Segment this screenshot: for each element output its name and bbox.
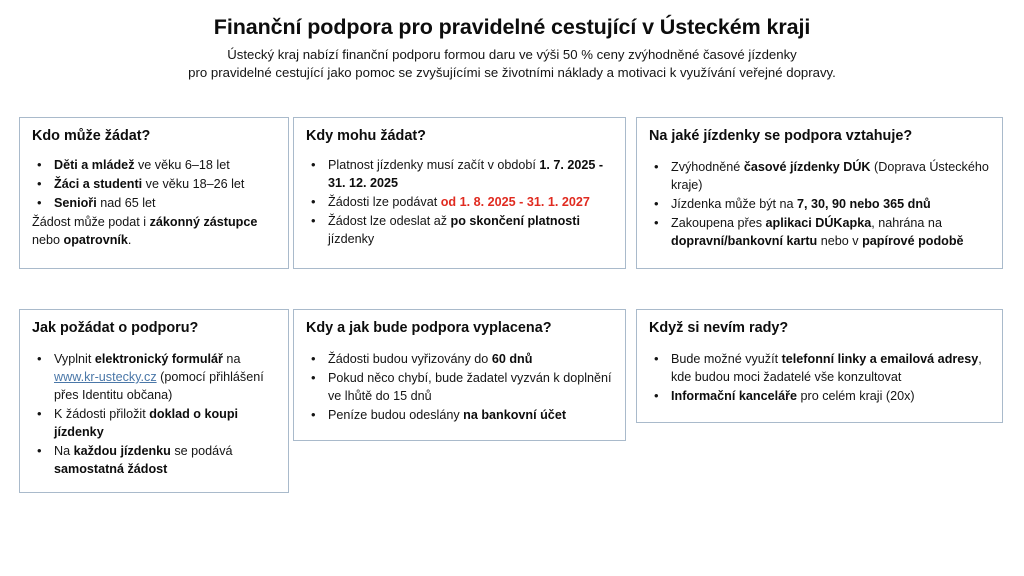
emphasis-text: elektronický formulář xyxy=(95,352,223,366)
bullet-item: Žáci a studenti ve věku 18–26 let xyxy=(32,176,276,194)
text-run: Zvýhodněné xyxy=(671,160,744,174)
text-run: nebo v xyxy=(817,234,862,248)
external-link[interactable]: www.kr-ustecky.cz xyxy=(54,370,157,384)
text-run: Žádosti lze podávat xyxy=(328,195,441,209)
emphasis-text: Senioři xyxy=(54,196,97,210)
bullet-item: Žádost lze odeslat až po skončení platno… xyxy=(306,213,613,249)
text-run: Pokud něco chybí, bude žadatel vyzván k … xyxy=(328,371,612,403)
bullet-list: Děti a mládež ve věku 6–18 letŽáci a stu… xyxy=(32,157,276,213)
card-title: Kdo může žádat? xyxy=(32,128,276,145)
text-run: ve věku 6–18 let xyxy=(135,158,230,172)
text-run: nebo xyxy=(32,233,64,247)
info-card-kdyz-si-nevim-rady: Když si nevím rady? Bude možné využít te… xyxy=(636,309,1003,423)
bullet-list: Zvýhodněné časové jízdenky DÚK (Doprava … xyxy=(649,159,990,250)
text-run: na xyxy=(223,352,241,366)
text-run: Platnost jízdenky musí začít v období xyxy=(328,158,539,172)
bullet-list: Platnost jízdenky musí začít v období 1.… xyxy=(306,157,613,248)
note-line: Žádost může podat i zákonný zástupce xyxy=(32,214,276,232)
bullet-item: Vyplnit elektronický formulář na www.kr-… xyxy=(32,351,276,405)
bullet-item: Na každou jízdenku se podává samostatná … xyxy=(32,443,276,479)
text-run: ve věku 18–26 let xyxy=(142,177,244,191)
bullet-item: Jízdenka může být na 7, 30, 90 nebo 365 … xyxy=(649,196,990,214)
emphasis-text: 60 dnů xyxy=(492,352,533,366)
card-body: Zvýhodněné časové jízdenky DÚK (Doprava … xyxy=(649,151,990,250)
page-subtitle-line-2: pro pravidelné cestující jako pomoc se z… xyxy=(0,64,1024,83)
highlighted-date: od 1. 8. 2025 - 31. 1. 2027 xyxy=(441,195,590,209)
text-run: nad 65 let xyxy=(97,196,156,210)
text-run: , nahrána na xyxy=(871,216,942,230)
info-card-kdy-a-jak-vyplacena: Kdy a jak bude podpora vyplacena? Žádost… xyxy=(293,309,626,441)
bullet-item: Senioři nad 65 let xyxy=(32,195,276,213)
emphasis-text: každou jízdenku xyxy=(74,444,171,458)
text-run: se podává xyxy=(171,444,233,458)
emphasis-text: aplikaci DÚKapka xyxy=(766,216,872,230)
info-card-kdo-muze-zadat: Kdo může žádat? Děti a mládež ve věku 6–… xyxy=(19,117,289,269)
emphasis-text: papírové podobě xyxy=(862,234,963,248)
card-body: Vyplnit elektronický formulář na www.kr-… xyxy=(32,343,276,478)
note-line: nebo opatrovník. xyxy=(32,232,276,250)
card-title: Na jaké jízdenky se podpora vztahuje? xyxy=(649,128,990,145)
bullet-item: Zakoupena přes aplikaci DÚKapka, nahrána… xyxy=(649,215,990,251)
page-title: Finanční podpora pro pravidelné cestujíc… xyxy=(0,0,1024,40)
bullet-item: Informační kanceláře pro celém kraji (20… xyxy=(649,388,990,406)
emphasis-text: dopravní/bankovní kartu xyxy=(671,234,817,248)
bullet-item: Bude možné využít telefonní linky a emai… xyxy=(649,351,990,387)
card-title: Kdy mohu žádat? xyxy=(306,128,613,145)
text-run: jízdenky xyxy=(328,232,374,246)
emphasis-text: samostatná žádost xyxy=(54,462,167,476)
bullet-item: Pokud něco chybí, bude žadatel vyzván k … xyxy=(306,370,613,406)
emphasis-text: Žáci a studenti xyxy=(54,177,142,191)
info-card-jak-pozadat-o-podporu: Jak požádat o podporu? Vyplnit elektroni… xyxy=(19,309,289,493)
text-run: Žádosti budou vyřizovány do xyxy=(328,352,492,366)
text-run: Žádost lze odeslat až xyxy=(328,214,451,228)
text-run: Zakoupena přes xyxy=(671,216,766,230)
text-run: . xyxy=(128,233,132,247)
emphasis-text: Informační kanceláře xyxy=(671,389,797,403)
emphasis-text: Děti a mládež xyxy=(54,158,135,172)
card-body: Platnost jízdenky musí začít v období 1.… xyxy=(306,151,613,248)
page-subtitle-line-1: Ústecký kraj nabízí finanční podporu for… xyxy=(0,46,1024,65)
bullet-item: K žádosti přiložit doklad o koupi jízden… xyxy=(32,406,276,442)
info-card-na-jake-jizdenky: Na jaké jízdenky se podpora vztahuje? Zv… xyxy=(636,117,1003,269)
text-run: Jízdenka může být na xyxy=(671,197,797,211)
emphasis-text: zákonný zástupce xyxy=(150,215,258,229)
bullet-list: Vyplnit elektronický formulář na www.kr-… xyxy=(32,351,276,478)
card-body: Děti a mládež ve věku 6–18 letŽáci a stu… xyxy=(32,151,276,249)
text-run: Peníze budou odeslány xyxy=(328,408,463,422)
page-header: Finanční podpora pro pravidelné cestujíc… xyxy=(0,0,1024,83)
text-run: pro celém kraji (20x) xyxy=(797,389,915,403)
card-body: Žádosti budou vyřizovány do 60 dnůPokud … xyxy=(306,343,613,425)
emphasis-text: po skončení platnosti xyxy=(451,214,580,228)
text-run: Vyplnit xyxy=(54,352,95,366)
bullet-list: Žádosti budou vyřizovány do 60 dnůPokud … xyxy=(306,351,613,425)
emphasis-text: 7, 30, 90 nebo 365 dnů xyxy=(797,197,931,211)
bullet-item: Platnost jízdenky musí začít v období 1.… xyxy=(306,157,613,193)
card-title: Kdy a jak bude podpora vyplacena? xyxy=(306,320,613,337)
text-run: K žádosti přiložit xyxy=(54,407,149,421)
page-subtitle: Ústecký kraj nabízí finanční podporu for… xyxy=(0,40,1024,83)
emphasis-text: na bankovní účet xyxy=(463,408,566,422)
bullet-item: Žádosti budou vyřizovány do 60 dnů xyxy=(306,351,613,369)
card-title: Jak požádat o podporu? xyxy=(32,320,276,337)
text-run: Na xyxy=(54,444,74,458)
bullet-item: Zvýhodněné časové jízdenky DÚK (Doprava … xyxy=(649,159,990,195)
emphasis-text: opatrovník xyxy=(64,233,128,247)
card-title: Když si nevím rady? xyxy=(649,320,990,337)
bullet-item: Děti a mládež ve věku 6–18 let xyxy=(32,157,276,175)
emphasis-text: časové jízdenky DÚK xyxy=(744,160,871,174)
text-run: Žádost může podat i xyxy=(32,215,150,229)
bullet-item: Peníze budou odeslány na bankovní účet xyxy=(306,407,613,425)
bullet-item: Žádosti lze podávat od 1. 8. 2025 - 31. … xyxy=(306,194,613,212)
info-card-kdy-mohu-zadat: Kdy mohu žádat? Platnost jízdenky musí z… xyxy=(293,117,626,269)
bullet-list: Bude možné využít telefonní linky a emai… xyxy=(649,351,990,406)
card-body: Bude možné využít telefonní linky a emai… xyxy=(649,343,990,406)
text-run: Bude možné využít xyxy=(671,352,782,366)
emphasis-text: telefonní linky a emailová adresy xyxy=(782,352,979,366)
